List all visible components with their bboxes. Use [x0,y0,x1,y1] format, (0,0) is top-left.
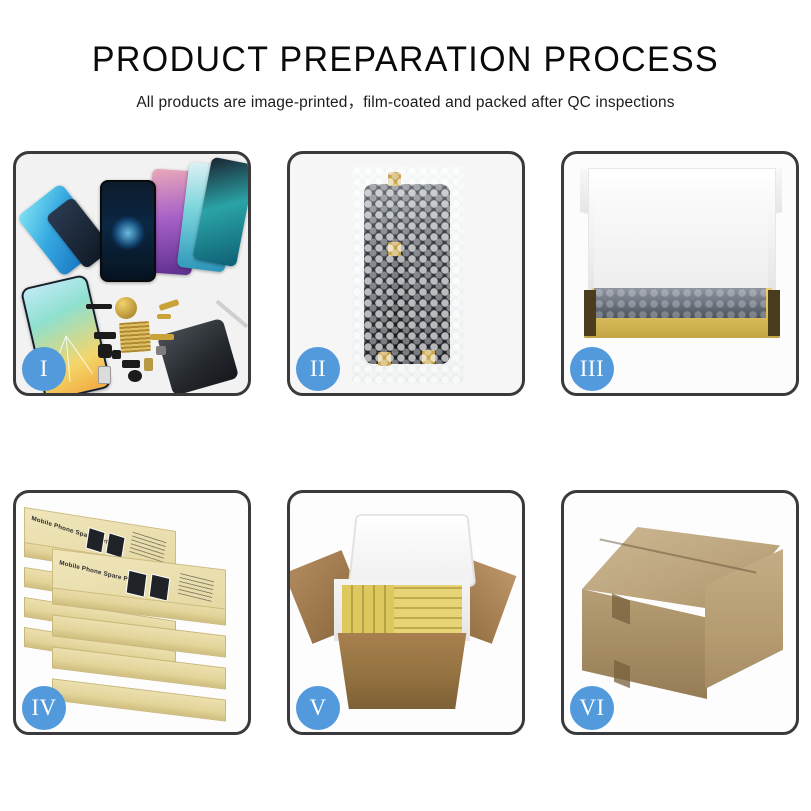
product-thumbnail [149,573,171,601]
bubble-wrapped-contents [594,288,766,318]
phone-back-housing [157,318,239,393]
step-badge-4: IV [22,686,66,730]
small-part [98,366,111,384]
carton-body [332,633,472,709]
product-thumbnail [126,570,148,598]
header: PRODUCT PREPARATION PROCESS All products… [0,42,811,112]
carton-left-face [582,589,707,699]
process-steps-grid: I II [13,151,798,735]
small-part [157,314,171,319]
step-badge-5: V [296,686,340,730]
product-preparation-infographic: PRODUCT PREPARATION PROCESS All products… [0,0,811,811]
small-part [128,370,142,382]
speaker-module [115,297,137,319]
yellow-boxes [394,585,462,637]
bubble-texture [352,166,464,384]
bubble-wrap-bag [352,166,464,384]
product-thumbnail [85,527,105,554]
chip-component [119,321,151,353]
step-badge-6: VI [570,686,614,730]
small-part [122,360,140,368]
process-step-panel-5: V [287,490,525,735]
small-part [159,299,180,311]
small-part [144,358,153,371]
crack-line [66,335,93,373]
page-title: PRODUCT PREPARATION PROCESS [12,42,799,79]
step-badge-2: II [296,347,340,391]
process-step-panel-2: II [287,151,525,396]
step-badge-3: III [570,347,614,391]
small-part [86,304,112,309]
small-part [94,332,116,339]
process-step-panel-1: I [13,151,251,396]
bubble-texture [594,288,766,318]
box-corner-right [768,290,780,336]
page-subtitle: All products are image-printed，film-coat… [0,90,811,112]
small-part [156,346,166,355]
foam-lid [348,514,477,587]
black-glass-screen [100,180,156,282]
small-part [150,334,174,340]
box-corner-left [584,290,596,336]
small-part [112,350,121,359]
process-step-panel-6: VI [561,490,799,735]
spec-text-lines [178,572,214,602]
small-part [98,344,112,358]
step-badge-1: I [22,347,66,391]
foam-insert [594,194,768,292]
process-step-panel-4: Mobile Phone Spare Parts Mobile Phone Sp… [13,490,251,735]
process-step-panel-3: III [561,151,799,396]
